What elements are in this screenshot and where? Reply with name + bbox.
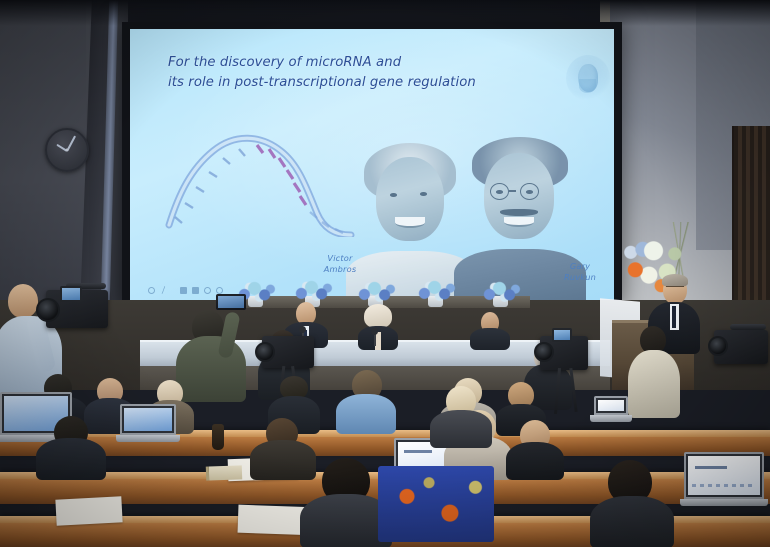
ambros-eye-right [420,192,427,196]
microphone-head-2 [371,328,378,335]
laureate-name-ambros: Victor Ambros [312,253,368,275]
water-bottle [212,424,224,450]
flower-arrangement-4 [416,279,458,303]
audience-12-torso [430,410,492,448]
laptop-5-base [680,499,768,506]
audience-member-8 [36,416,106,480]
ruvkun-first-name: Gary [570,261,590,271]
ambros-eye-left [390,193,397,197]
ruvkun-last-name: Ruvkun [564,272,596,282]
laptop-1-screen [598,400,624,411]
presentation-slide: For the discovery of microRNA and its ro… [130,29,614,302]
camera-center-lens [255,342,275,362]
slide-title: For the discovery of microRNA and its ro… [168,53,498,93]
laptop-4-screen-bar [404,450,432,453]
ruvkun-smile [504,217,534,227]
panelist-center-hair [364,304,392,328]
camera-left-monitor[interactable] [60,286,82,302]
panelist-right [470,312,510,350]
audience-member-12 [430,386,492,448]
laptop-3-screen [124,408,172,431]
audience-8-torso [36,438,106,480]
operator-far-right-jacket [628,350,680,418]
laureate-portraits [342,137,582,302]
laptop-5-screen-bar [695,466,727,469]
notebook-1 [206,465,242,480]
patterned-bag [378,466,494,542]
more-icon[interactable] [216,287,223,294]
laptop-1-base [590,415,632,422]
ambros-face [376,157,444,241]
medal-profile-beard [579,79,596,93]
foreground-right-torso [590,496,674,547]
pen-icon[interactable] [159,286,166,294]
speaker-tie [672,306,676,328]
laptop-3-base [116,435,180,442]
panelist-center [356,306,400,350]
nobel-medal-icon [566,55,610,101]
ruvkun-eye-left [496,190,503,194]
flower-arrangement-5 [481,280,523,304]
slide-title-line-2: its role in post-transcriptional gene re… [168,73,498,93]
laptop-3-lid [120,404,176,435]
ruvkun-mustache [500,209,538,216]
slide-view-icon[interactable] [180,287,187,294]
laureate-name-ruvkun: Gary Ruvkun [552,261,608,283]
audience-11-torso [506,442,564,480]
operator-left-head [8,284,38,318]
flower-arrangement-2 [293,279,335,303]
microrna-strand-icon [165,117,355,237]
ambros-first-name: Victor [327,253,352,263]
camera-far-right-lens [708,336,728,356]
slide-title-line-1: For the discovery of microRNA and [168,55,401,70]
panelist-right-torso [470,328,510,350]
laptop-5[interactable] [684,452,764,506]
clock-center-pin [66,149,69,152]
camera-operator-far-right [628,326,680,418]
ruvkun-glasses-bridge [509,190,516,192]
projection-screen-frame: For the discovery of microRNA and its ro… [122,22,622,308]
camera-right-monitor[interactable] [552,328,572,342]
camera-right-lens [534,342,554,362]
camera-far-right-microphone [730,324,766,330]
foreground-person-right [590,460,674,547]
audience-member-11 [506,420,564,480]
ambros-smile [395,217,425,228]
pointer-icon[interactable] [148,287,155,294]
smartphone[interactable] [216,294,246,310]
audience-5-shirt [336,394,396,434]
zoom-icon[interactable] [204,287,211,294]
smartphone-screen [218,296,244,308]
paper-2 [55,496,122,525]
laptop-3[interactable] [120,404,176,442]
laptop-5-screen-rows [692,484,755,487]
audience-member-5 [336,370,396,434]
ambros-last-name: Ambros [324,264,357,274]
laptop-5-screen [688,456,760,495]
laptop-1-lid [594,396,628,415]
presentation-toolbar[interactable] [148,284,223,296]
wall-clock [45,128,89,172]
laptop-5-lid [684,452,764,499]
flower-arrangement-3 [356,280,398,304]
laptop-1[interactable] [594,396,628,422]
press-conference-photo: For the discovery of microRNA and its ro… [0,0,770,547]
camera-left-lens [36,298,60,322]
ruvkun-eye-right [526,190,533,194]
speaker-glasses [666,286,684,290]
grid-icon[interactable] [192,287,199,294]
